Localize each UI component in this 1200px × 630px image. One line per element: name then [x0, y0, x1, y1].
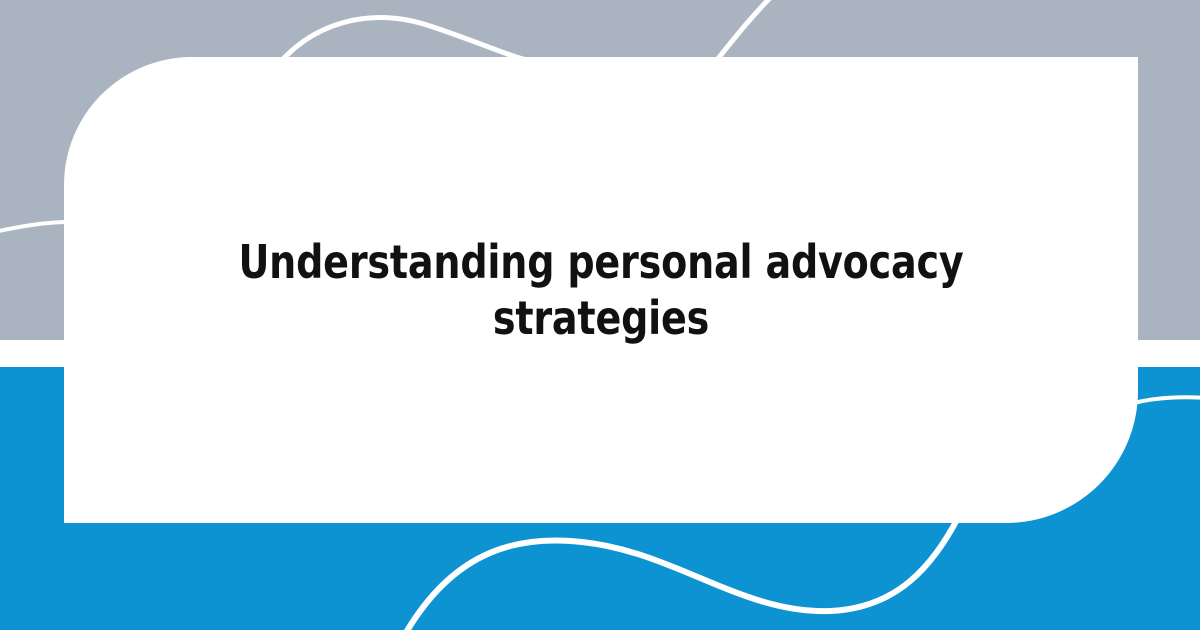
share-card-canvas: Understanding personal advocacy strategi…	[0, 0, 1200, 630]
page-title: Understanding personal advocacy strategi…	[233, 234, 969, 346]
